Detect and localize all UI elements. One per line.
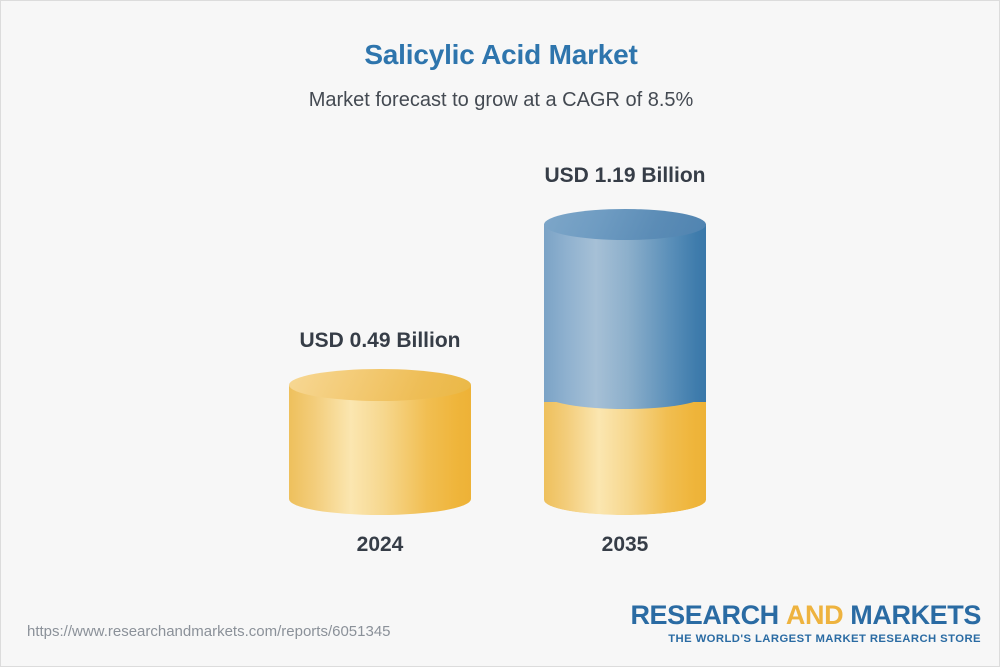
cylinder-segment-divider <box>544 379 706 409</box>
bar-cylinder-2024 <box>289 369 471 515</box>
chart-subtitle: Market forecast to grow at a CAGR of 8.5… <box>1 89 1000 112</box>
cylinder-body <box>544 224 706 515</box>
bar-cylinder-2035 <box>544 209 706 515</box>
value-label-2035: USD 1.19 Billion <box>475 164 775 188</box>
cylinder-segment-base <box>544 394 706 515</box>
page-title: Salicylic Acid Market <box>1 39 1000 71</box>
value-label-2024: USD 0.49 Billion <box>230 329 530 353</box>
cylinder-top-ellipse <box>289 369 471 401</box>
brand-word-and: AND <box>786 600 843 630</box>
brand-wordmark: RESEARCH AND MARKETS <box>630 602 981 629</box>
brand-word-markets: MARKETS <box>850 600 981 630</box>
cylinder-body-base-segment <box>289 385 471 515</box>
market-forecast-infographic: Salicylic Acid Market Market forecast to… <box>0 0 1000 667</box>
cylinder-top-ellipse <box>544 209 706 240</box>
category-label-2035: 2035 <box>475 533 775 557</box>
brand-tagline: THE WORLD'S LARGEST MARKET RESEARCH STOR… <box>630 633 981 645</box>
brand-logo[interactable]: RESEARCH AND MARKETS THE WORLD'S LARGEST… <box>630 602 981 645</box>
source-url[interactable]: https://www.researchandmarkets.com/repor… <box>27 623 391 640</box>
cylinder-segment-growth <box>544 224 706 402</box>
brand-word-research: RESEARCH <box>630 600 778 630</box>
